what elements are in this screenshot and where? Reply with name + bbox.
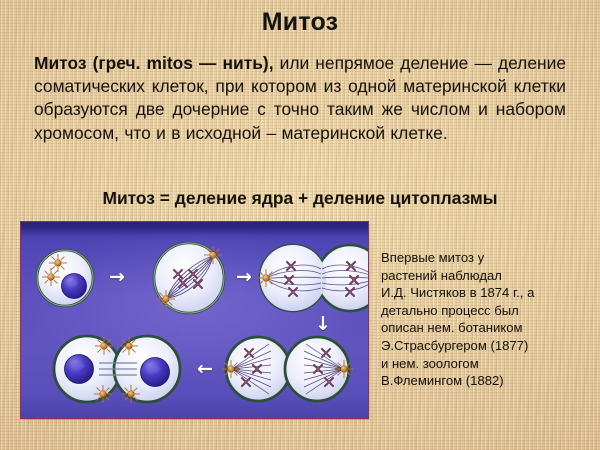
stage-prophase [37,250,93,306]
stage-metaphase [154,243,224,313]
caption-line: и нем. зоологом [381,355,595,373]
history-caption: Впервые митоз у растений наблюдал И.Д. Ч… [381,249,595,390]
caption-line: растений наблюдал [381,267,595,285]
arrow-left-1: ← [197,358,213,380]
caption-line: В.Флемингом (1882) [381,372,595,390]
page-title: Митоз [0,8,600,37]
mitosis-equation: Митоз = деление ядра + деление цитоплазм… [0,188,600,209]
mitosis-diagram-panel: → → [21,222,368,418]
stage-telophase [54,336,180,403]
caption-line: описан нем. ботаником [381,319,595,337]
definition-paragraph: Митоз (греч. mitos — нить), или непрямое… [34,52,566,145]
mitosis-diagram-svg: → → [21,222,368,418]
arrow-right-1: → [109,266,125,288]
caption-line: И.Д. Чистяков в 1874 г., а [381,284,595,302]
arrow-right-2: → [236,266,252,288]
caption-line: Впервые митоз у [381,249,595,267]
stage-anaphase [257,244,368,312]
caption-line: детально процесс был [381,302,595,320]
definition-term: Митоз (греч. mitos — нить), [34,53,274,73]
stage-telophase-late [222,337,353,401]
arrow-down-1: ↓ [315,313,331,335]
caption-line: Э.Страсбургером (1877) [381,337,595,355]
